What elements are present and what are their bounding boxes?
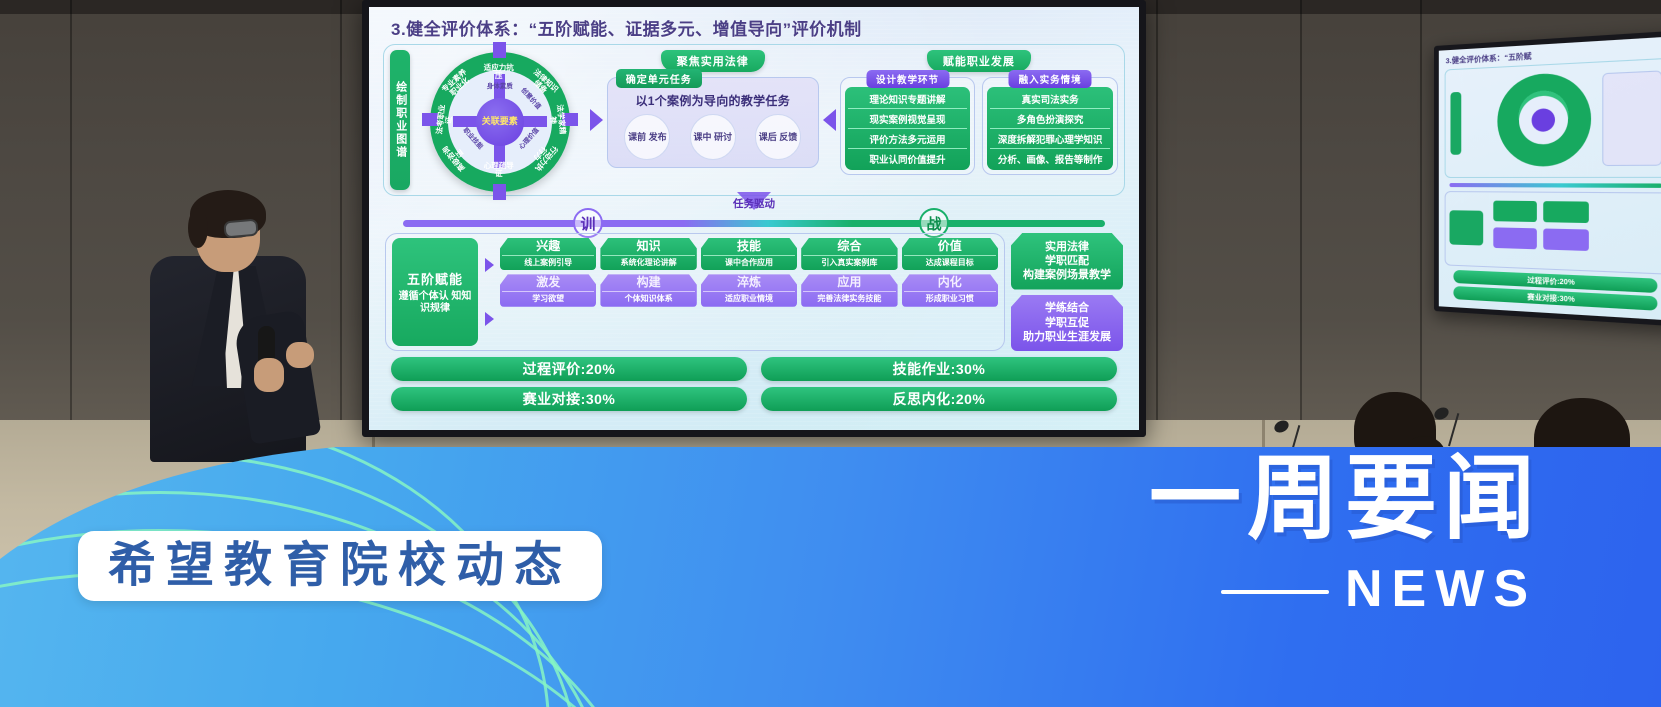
secondary-wheel: [1497, 72, 1591, 167]
presenter-person: [146, 192, 316, 460]
wheel-center-label: 关联要素: [476, 98, 524, 146]
phase-circles: 课前 发布 课中 研讨 课后 反馈: [615, 114, 811, 160]
career-map-label: 绘制职业图谱: [390, 50, 410, 190]
stage-green-title-4: 价值: [904, 240, 996, 254]
stage-green-title-3: 综合: [803, 240, 895, 254]
outcome-green-line-1: 学职匹配: [1045, 254, 1089, 268]
stage-column-0: 兴趣 线上案例引导 激发 学习欲望: [500, 238, 596, 346]
stage-green-2: 技能 课中合作应用: [701, 238, 797, 270]
stage-green-title-1: 知识: [602, 240, 694, 254]
stage-purple-sub-3: 完善法律实务技能: [803, 291, 895, 304]
stage-purple-3: 应用 完善法律实务技能: [801, 274, 897, 306]
stage-green-4: 价值 达成课程目标: [902, 238, 998, 270]
outcome-purple-line-1: 学职互促: [1045, 316, 1089, 330]
wall-seam: [70, 0, 72, 430]
stage-green-sub-4: 达成课程目标: [904, 255, 996, 268]
brand-pill-text: 希望教育院校动态: [108, 542, 572, 590]
slide-title: 3.健全评价体系：“五阶赋能、证据多元、增值导向”评价机制: [391, 15, 1129, 40]
gradient-band: [403, 220, 1105, 227]
outcome-purple-box: 学练结合 学职互促 助力职业生涯发展: [1011, 295, 1123, 352]
five-stage-arrows: [483, 238, 495, 346]
wheel-label-0: 适应力抗压: [482, 64, 516, 80]
brand-pill: 希望教育院校动态: [78, 531, 602, 601]
flow-arrow-left: [823, 109, 836, 131]
unit-task-main: 以1个案例为导向的教学任务: [615, 92, 811, 109]
assessment-bar-3: 反思内化:20%: [761, 387, 1117, 411]
stage-purple-sub-0: 学习欲望: [502, 291, 594, 304]
banner-headline-cn: 一周要闻: [1149, 453, 1541, 545]
assessment-weight-bars: 过程评价:20% 技能作业:30% 赛业对接:30% 反思内化:20%: [391, 357, 1117, 411]
outcome-purple-line-2: 助力职业生涯发展: [1023, 330, 1111, 344]
unit-task-card: 确定单元任务 以1个案例为导向的教学任务 课前 发布 课中 研讨 课后 反馈: [607, 77, 819, 168]
five-stage-label: 五阶赋能 遵循个体认 知知识规律: [392, 238, 478, 346]
secondary-stage-label: [1449, 210, 1483, 245]
unit-task-tag: 确定单元任务: [616, 69, 702, 88]
outcome-purple-line-0: 学练结合: [1045, 301, 1089, 315]
phase-circle-1: 课中 研讨: [690, 114, 736, 160]
stage-green-0: 兴趣 线上案例引导: [500, 238, 596, 270]
secondary-top-box: [1445, 58, 1661, 178]
wall-seam: [340, 0, 342, 430]
secondary-band: [1449, 183, 1661, 188]
secondary-display-screen: 3.健全评价体系：“五阶赋 过程评价:20% 赛业对接:30%: [1434, 30, 1661, 326]
wheel-label-6: 法考职业证: [435, 102, 454, 137]
stage-green-sub-1: 系统化理论讲解: [602, 255, 694, 268]
career-dev-groups: 设计教学环节 理论知识专题讲解 现实案例视觉呈现 评价方法多元运用 职业认同价值…: [840, 77, 1118, 175]
outcome-side-column: 实用法律 学职匹配 构建案例场景教学 学练结合 学职互促 助力职业生涯发展: [1011, 233, 1123, 351]
phase-circle-0: 课前 发布: [624, 114, 670, 160]
phase-circle-2: 课后 反馈: [755, 114, 801, 160]
stage-column-1: 知识 系统化理论讲解 构建 个体知识体系: [600, 238, 696, 346]
practice-context-item-2: 深度拆解犯罪心理学知识: [990, 129, 1110, 149]
wall-seam: [1156, 0, 1158, 430]
practice-context-list: 真实司法实务 多角色扮演探究 深度拆解犯罪心理学知识 分析、画像、报告等制作: [987, 87, 1113, 170]
assessment-bar-0: 过程评价:20%: [391, 357, 747, 381]
career-dev-cap: 赋能职业发展: [927, 50, 1031, 72]
wheel-label-2: 法学家精神: [547, 102, 566, 137]
main-display-screen: 3.健全评价体系：“五阶赋能、证据多元、增值导向”评价机制 绘制职业图谱 关联要…: [362, 0, 1146, 437]
screenshot-root: 3.健全评价体系：“五阶赋能、证据多元、增值导向”评价机制 绘制职业图谱 关联要…: [0, 0, 1661, 707]
practice-context-item-0: 真实司法实务: [990, 89, 1110, 109]
secondary-hex-purple: [1543, 228, 1589, 251]
wall-seam: [1300, 0, 1302, 430]
stage-green-1: 知识 系统化理论讲解: [600, 238, 696, 270]
stage-purple-title-4: 内化: [904, 276, 996, 290]
stage-column-4: 价值 达成课程目标 内化 形成职业习惯: [902, 238, 998, 346]
presenter-hand-holding-mic: [254, 358, 284, 392]
secondary-slide: 3.健全评价体系：“五阶赋 过程评价:20% 赛业对接:30%: [1439, 36, 1661, 320]
practice-context-item-1: 多角色扮演探究: [990, 109, 1110, 129]
teaching-design-item-1: 现实案例视觉呈现: [848, 109, 968, 129]
outcome-green-line-0: 实用法律: [1045, 240, 1089, 254]
banner-headline-en: NEWS: [1345, 563, 1537, 615]
wheel-label-4: 心理疏导证: [482, 162, 516, 178]
outcome-green-line-2: 构建案例场景教学: [1023, 268, 1111, 282]
stage-purple-sub-4: 形成职业习惯: [904, 291, 996, 304]
stage-green-title-2: 技能: [703, 240, 795, 254]
career-development-column: 赋能职业发展 设计教学环节 理论知识专题讲解 现实案例视觉呈现 评价方法多元运用…: [840, 50, 1118, 190]
stage-arrow-icon: [485, 312, 494, 326]
practice-context-tag: 融入实务情境: [1009, 70, 1092, 88]
presenter-hand-gesture: [286, 342, 314, 368]
stage-purple-title-3: 应用: [803, 276, 895, 290]
stage-purple-sub-2: 适应职业情境: [703, 291, 795, 304]
wheel-spoke-top: [493, 42, 506, 58]
stage-purple-0: 激发 学习欲望: [500, 274, 596, 306]
five-stage-label-sub: 遵循个体认 知知识规律: [395, 291, 475, 316]
stage-purple-1: 构建 个体知识体系: [600, 274, 696, 306]
teaching-design-card: 设计教学环节 理论知识专题讲解 现实案例视觉呈现 评价方法多元运用 职业认同价值…: [840, 77, 976, 175]
secondary-hex-purple: [1493, 227, 1537, 249]
stage-column-3: 综合 引入真实案例库 应用 完善法律实务技能: [801, 238, 897, 346]
presentation-slide: 3.健全评价体系：“五阶赋能、证据多元、增值导向”评价机制 绘制职业图谱 关联要…: [369, 7, 1139, 430]
secondary-bars: 过程评价:20% 赛业对接:30%: [1453, 270, 1657, 311]
slide-top-section: 绘制职业图谱 关联要素 适应力抗压 法律知识储备 法学家精神: [383, 44, 1125, 196]
flow-arrow-right: [590, 109, 603, 131]
secondary-right-card: [1602, 70, 1661, 166]
task-driven-band: 任务驱动 训 战: [389, 198, 1119, 228]
stage-green-sub-2: 课中合作应用: [703, 255, 795, 268]
secondary-hex-green: [1493, 201, 1537, 222]
stage-green-3: 综合 引入真实案例库: [801, 238, 897, 270]
five-stage-grid: 兴趣 线上案例引导 激发 学习欲望 知识 系统化理论讲解: [500, 238, 998, 346]
five-stage-label-title: 五阶赋能: [407, 269, 463, 288]
stage-green-sub-0: 线上案例引导: [502, 255, 594, 268]
unit-task-column: 聚焦实用法律 确定单元任务 以1个案例为导向的教学任务 课前 发布 课中 研讨 …: [607, 50, 819, 190]
outcome-green-box: 实用法律 学职匹配 构建案例场景教学: [1011, 233, 1123, 290]
teaching-design-item-3: 职业认同价值提升: [848, 149, 968, 168]
assessment-bar-1: 技能作业:30%: [761, 357, 1117, 381]
five-stage-section: 五阶赋能 遵循个体认 知知识规律 兴趣 线上案例引导: [385, 233, 1123, 351]
presenter-hair-side: [188, 208, 208, 248]
stage-purple-4: 内化 形成职业习惯: [902, 274, 998, 306]
practice-context-item-3: 分析、画像、报告等制作: [990, 149, 1110, 168]
bottom-banner: 希望教育院校动态 一周要闻 NEWS: [0, 447, 1661, 707]
presenter-glasses: [223, 219, 258, 239]
stage-purple-2: 淬炼 适应职业情境: [701, 274, 797, 306]
secondary-vertical-label: [1450, 92, 1461, 155]
teaching-design-tag: 设计教学环节: [866, 70, 949, 88]
practice-context-card: 融入实务情境 真实司法实务 多角色扮演探究 深度拆解犯罪心理学知识 分析、画像、…: [982, 77, 1118, 175]
teaching-design-item-0: 理论知识专题讲解: [848, 89, 968, 109]
assessment-bar-2: 赛业对接:30%: [391, 387, 747, 411]
stage-purple-sub-1: 个体知识体系: [602, 291, 694, 304]
teaching-design-list: 理论知识专题讲解 现实案例视觉呈现 评价方法多元运用 职业认同价值提升: [845, 87, 971, 170]
wheel-inner-label-0: 身体素质: [484, 84, 516, 91]
competency-wheel-diagram: 关联要素 适应力抗压 法律知识储备 法学家精神 行动力执行力 心理疏导证 高级咨…: [414, 50, 586, 192]
stage-purple-title-0: 激发: [502, 276, 594, 290]
stage-green-sub-3: 引入真实案例库: [803, 255, 895, 268]
stage-green-title-0: 兴趣: [502, 240, 594, 254]
wall-seam: [1420, 0, 1422, 430]
stage-column-2: 技能 课中合作应用 淬炼 适应职业情境: [701, 238, 797, 346]
five-stage-card: 五阶赋能 遵循个体认 知知识规律 兴趣 线上案例引导: [385, 233, 1005, 351]
stage-purple-title-2: 淬炼: [703, 276, 795, 290]
banner-rule: [1221, 590, 1329, 594]
task-driven-label: 任务驱动: [733, 196, 775, 211]
stage-purple-title-1: 构建: [602, 276, 694, 290]
wheel-center-text: 关联要素: [482, 117, 518, 127]
secondary-five-stage-box: [1445, 191, 1661, 275]
teaching-design-item-2: 评价方法多元运用: [848, 129, 968, 149]
stage-arrow-icon: [485, 258, 494, 272]
secondary-hex-green: [1543, 201, 1589, 223]
